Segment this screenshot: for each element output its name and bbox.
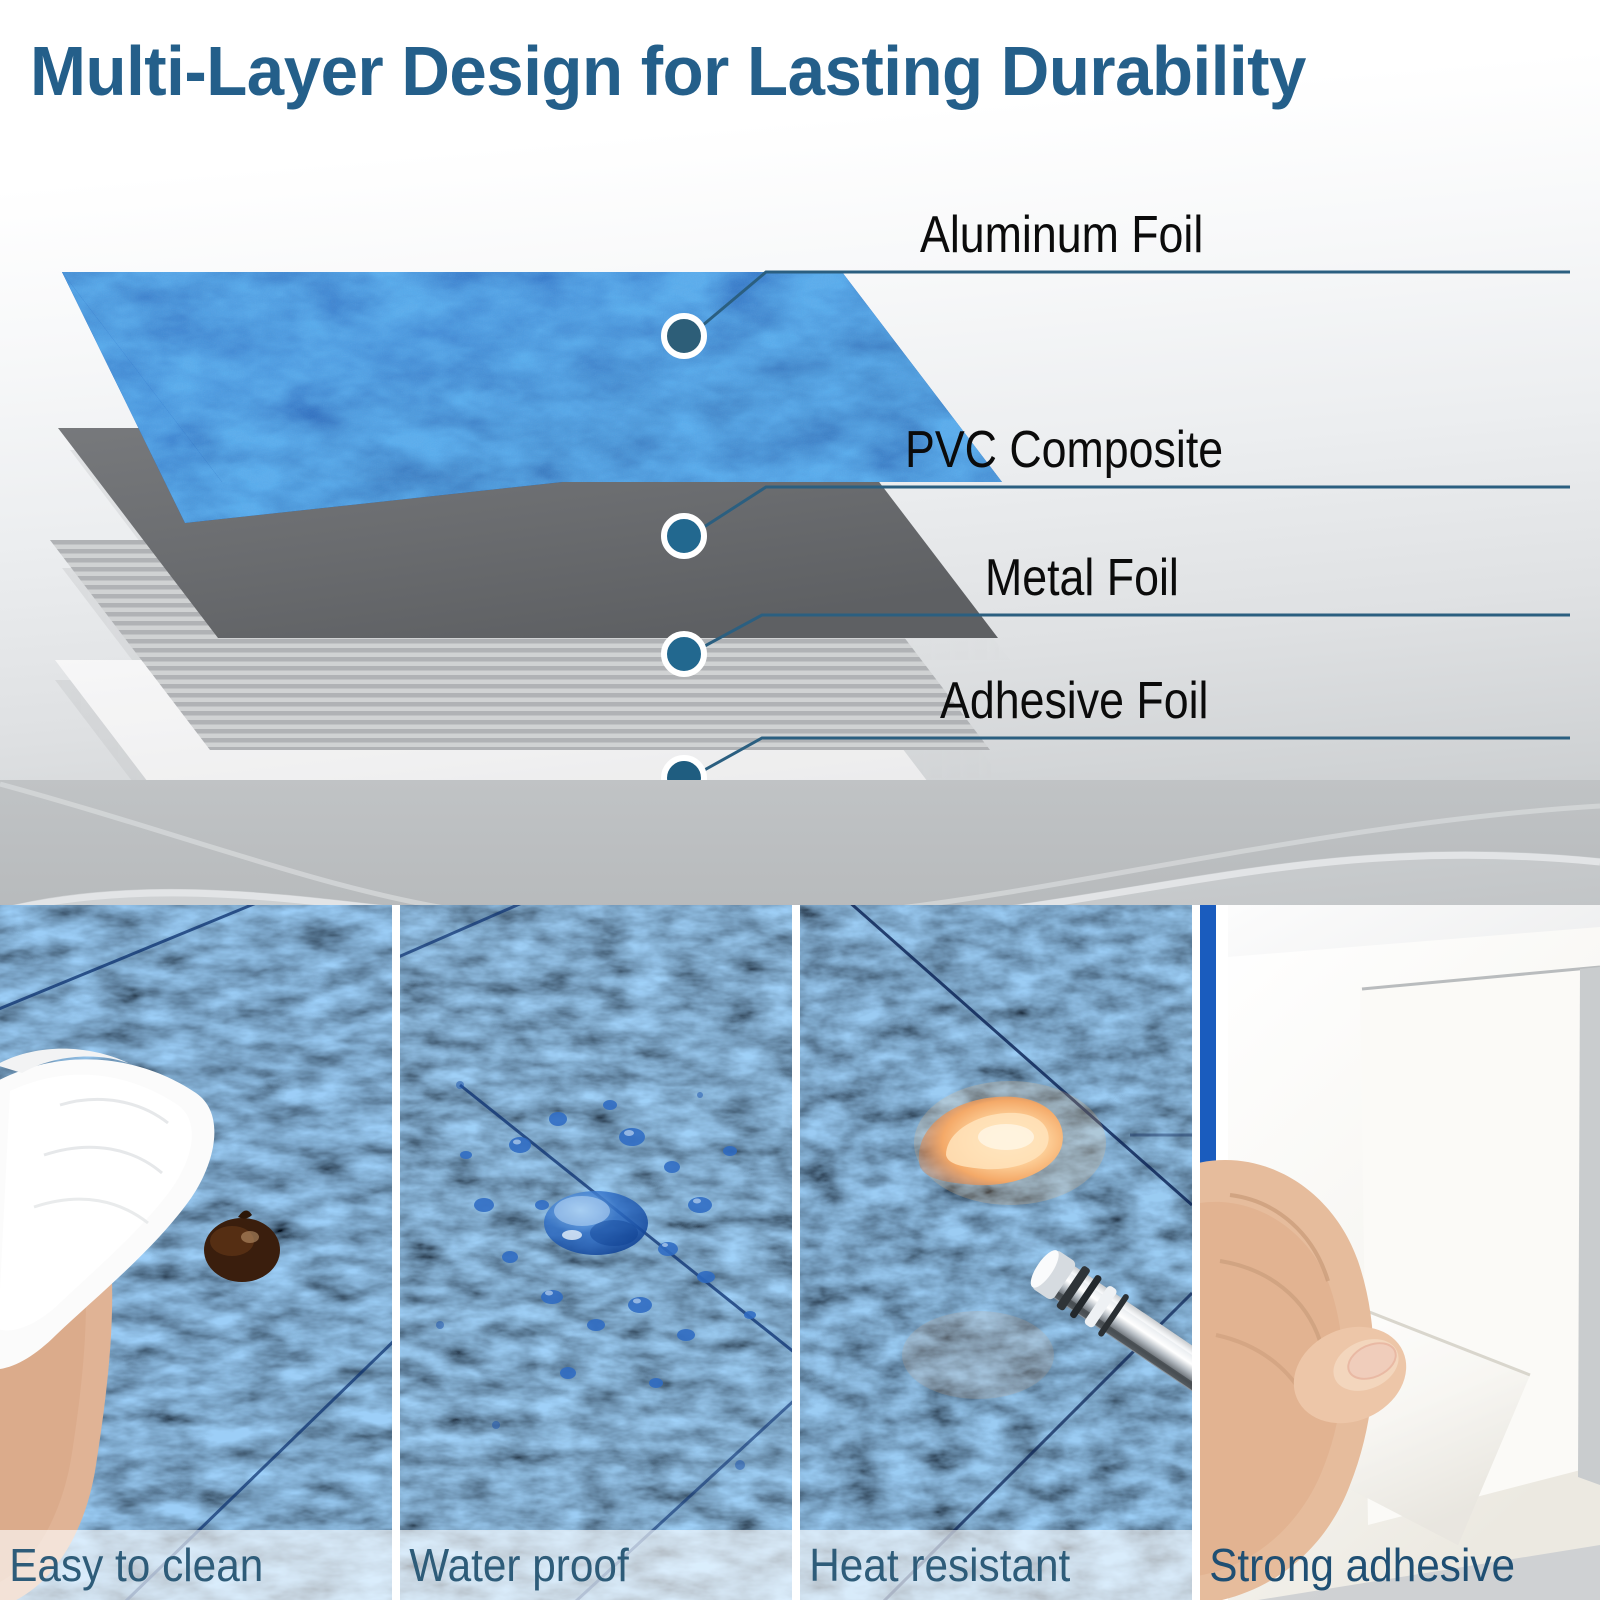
layer-sheets [0,0,1600,905]
feature-panel-water-proof[interactable]: Water proof [400,905,792,1600]
caption-heat-resistant: Heat resistant [800,1538,1070,1592]
caption-band-heat-resistant: Heat resistant [800,1530,1192,1600]
callout-dot-pvc-composite[interactable] [664,516,704,556]
callout-label-aluminum-foil: Aluminum Foil [920,205,1203,265]
caption-band-easy-to-clean: Easy to clean [0,1530,392,1600]
caption-band-water-proof: Water proof [400,1530,792,1600]
infographic-canvas: Multi-Layer Design for Lasting Durabilit… [0,0,1600,1600]
callout-dot-adhesive-foil[interactable] [664,758,704,798]
caption-water-proof: Water proof [400,1538,629,1592]
callout-dot-metal-foil[interactable] [664,634,704,674]
caption-strong-adhesive: Strong adhesive [1200,1538,1515,1592]
feature-panel-heat-resistant[interactable]: Heat resistant [800,905,1192,1600]
photo-easy-to-clean [0,905,392,1600]
feature-panels-section: Easy to clean [0,905,1600,1600]
feature-panel-strong-adhesive[interactable]: Strong adhesive [1200,905,1600,1600]
photo-water-proof [400,905,792,1600]
caption-easy-to-clean: Easy to clean [0,1538,263,1592]
feature-panel-easy-to-clean[interactable]: Easy to clean [0,905,392,1600]
photo-heat-resistant [800,905,1192,1600]
callout-dot-aluminum-foil[interactable] [664,316,704,356]
callout-label-pvc-composite: PVC Composite [905,420,1223,480]
photo-strong-adhesive [1200,905,1600,1600]
layer-diagram-section: Multi-Layer Design for Lasting Durabilit… [0,0,1600,905]
callout-label-metal-foil: Metal Foil [985,548,1179,608]
callout-label-adhesive-foil: Adhesive Foil [940,671,1208,731]
caption-band-strong-adhesive: Strong adhesive [1200,1530,1600,1600]
